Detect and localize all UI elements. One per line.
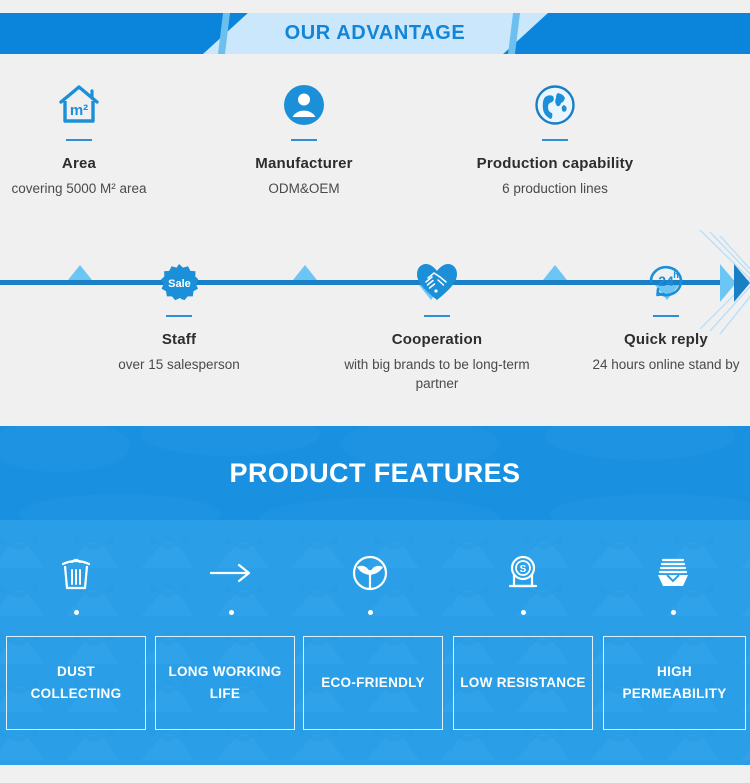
handshake-heart-icon — [322, 246, 552, 302]
product-features-title: PRODUCT FEATURES — [0, 426, 750, 520]
advantage-section: m² Area covering 5000 M² area Manufactur… — [0, 54, 750, 426]
feature-dot — [368, 610, 373, 615]
card-rule — [542, 139, 568, 141]
sale-badge-icon: Sale — [64, 246, 294, 302]
feature-box-dust-collecting[interactable]: DUST COLLECTING — [6, 636, 146, 730]
feature-icons-row: S — [0, 550, 750, 620]
advantage-card-staff: Sale Staff over 15 salesperson — [64, 246, 294, 374]
right-arrow-icon — [171, 550, 291, 596]
product-features-header: PRODUCT FEATURES — [0, 426, 750, 520]
advantage-name: Manufacturer — [189, 155, 419, 172]
card-rule — [291, 139, 317, 141]
advantage-card-area: m² Area covering 5000 M² area — [0, 70, 194, 198]
globe-icon — [440, 70, 670, 126]
house-square-meter-icon: m² — [0, 70, 194, 126]
svg-text:S: S — [520, 564, 527, 575]
feature-dot — [671, 610, 676, 615]
advantage-card-manufacturer: Manufacturer ODM&OEM — [189, 70, 419, 198]
trash-bin-icon — [16, 550, 136, 596]
eco-leaf-circle-icon — [310, 550, 430, 596]
twentyfour-hour-icon: 24 h — [551, 246, 750, 302]
feature-icon-high-permeability — [613, 550, 733, 615]
advantage-name: Cooperation — [322, 331, 552, 348]
feature-icon-dust-collecting — [16, 550, 136, 615]
advantage-features-page: OUR ADVANTAGE m² Area covering 5000 M² a… — [0, 0, 750, 783]
feature-boxes-row: DUST COLLECTING LONG WORKING LIFE ECO-FR… — [0, 636, 750, 730]
feature-dot — [229, 610, 234, 615]
advantage-desc: covering 5000 M² area — [0, 179, 194, 198]
svg-text:m²: m² — [70, 102, 88, 119]
feature-icon-low-resistance: S — [463, 550, 583, 615]
person-circle-icon — [189, 70, 419, 126]
feature-box-high-permeability[interactable]: HIGH PERMEABILITY — [603, 636, 746, 730]
stacked-inbox-icon — [613, 550, 733, 596]
advantage-card-production: Production capability 6 production lines — [440, 70, 670, 198]
feature-icon-long-working-life — [171, 550, 291, 615]
advantage-desc: with big brands to be long-term partner — [322, 355, 552, 393]
feature-box-low-resistance[interactable]: LOW RESISTANCE — [453, 636, 593, 730]
advantage-desc: 6 production lines — [440, 179, 670, 198]
our-advantage-title: OUR ADVANTAGE — [0, 13, 750, 54]
advantage-name: Production capability — [440, 155, 670, 172]
card-rule — [424, 315, 450, 317]
advantage-name: Area — [0, 155, 194, 172]
feature-box-eco-friendly[interactable]: ECO-FRIENDLY — [303, 636, 443, 730]
advantage-desc: ODM&OEM — [189, 179, 419, 198]
advantage-desc: 24 hours online stand by — [551, 355, 750, 374]
timeline-marker-up — [293, 265, 317, 280]
product-features-body: S DUST COLLECTIN — [0, 520, 750, 765]
card-rule — [66, 139, 92, 141]
feature-dot — [521, 610, 526, 615]
advantage-card-quick-reply: 24 h Quick reply 24 hours online stand b… — [551, 246, 750, 374]
svg-text:Sale: Sale — [168, 278, 191, 290]
advantage-name: Staff — [64, 331, 294, 348]
svg-text:h: h — [673, 270, 679, 280]
card-rule — [166, 315, 192, 317]
dollar-pin-icon: S — [463, 550, 583, 596]
advantage-desc: over 15 salesperson — [64, 355, 294, 374]
feature-icon-eco-friendly — [310, 550, 430, 615]
feature-box-long-working-life[interactable]: LONG WORKING LIFE — [155, 636, 295, 730]
feature-dot — [74, 610, 79, 615]
card-rule — [653, 315, 679, 317]
advantage-name: Quick reply — [551, 331, 750, 348]
svg-text:24: 24 — [658, 273, 674, 289]
our-advantage-banner: OUR ADVANTAGE — [0, 13, 750, 54]
advantage-card-cooperation: Cooperation with big brands to be long-t… — [322, 246, 552, 393]
